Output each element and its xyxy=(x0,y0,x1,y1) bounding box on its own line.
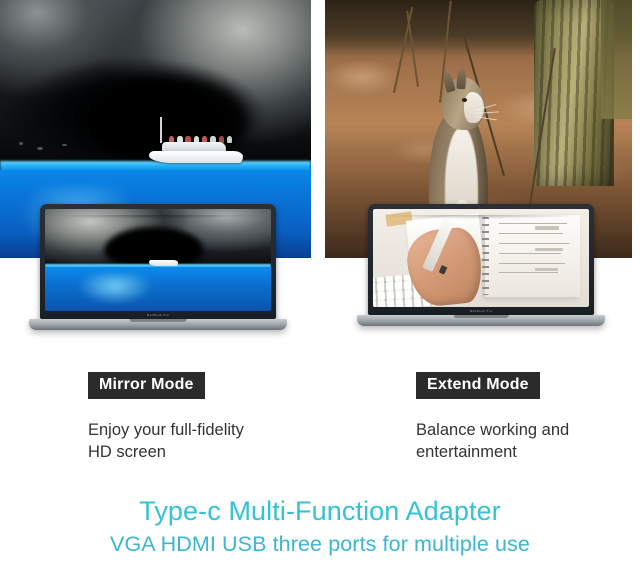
laptop-screen-extend xyxy=(373,209,589,307)
screen-content-grotto xyxy=(45,209,271,311)
product-headline: Type-c Multi-Function Adapter xyxy=(0,496,640,526)
planner-rule-line xyxy=(499,272,558,273)
planner-rule-line xyxy=(499,223,567,224)
caption-mirror-description: Enjoy your full-fidelity HD screen xyxy=(88,419,368,463)
laptop-lid: MacBook Pro xyxy=(40,204,276,319)
laptop-drop-shadow xyxy=(54,215,262,219)
laptop-chin: MacBook Pro xyxy=(368,307,594,314)
laptop-extend-mode: MacBook Pro xyxy=(368,204,594,326)
planner-rule-line xyxy=(499,253,562,254)
planner-text-block xyxy=(535,248,564,251)
planner-rule-line xyxy=(499,263,566,264)
passenger xyxy=(227,136,233,143)
laptop-screen-mirror xyxy=(45,209,271,311)
badge-extend-mode: Extend Mode xyxy=(416,372,540,399)
spiral-planner xyxy=(485,215,580,297)
laptop-drop-shadow xyxy=(382,215,581,219)
caption-extend-mode: Extend Mode Balance working and entertai… xyxy=(416,372,640,463)
caption-extend-description: Balance working and entertainment xyxy=(416,419,640,463)
tree-trunk-secondary xyxy=(601,0,632,119)
planner-text-block xyxy=(535,226,560,229)
laptop-brand-label: MacBook Pro xyxy=(147,313,169,317)
screen-water-glow xyxy=(77,274,154,305)
badge-mirror-mode: Mirror Mode xyxy=(88,372,205,399)
laptop-brand-label: MacBook Pro xyxy=(470,309,492,313)
rock-speck xyxy=(19,142,23,145)
laptop-chin: MacBook Pro xyxy=(40,311,276,318)
cat-head xyxy=(442,77,485,130)
laptop-lid: MacBook Pro xyxy=(368,204,594,315)
laptop-base xyxy=(29,319,287,330)
caption-row: Mirror Mode Enjoy your full-fidelity HD … xyxy=(0,372,640,482)
laptop-mirror-mode: MacBook Pro xyxy=(40,204,276,330)
cat-whisker xyxy=(475,111,499,114)
tour-boat xyxy=(149,141,242,163)
caption-mirror-mode: Mirror Mode Enjoy your full-fidelity HD … xyxy=(88,372,368,463)
planner-text-block xyxy=(535,268,558,271)
screen-content-planner xyxy=(373,209,589,307)
planner-rule-line xyxy=(499,233,564,234)
boat-hull xyxy=(149,151,242,162)
screen-boat xyxy=(149,260,178,266)
product-subheadline: VGA HDMI USB three ports for multiple us… xyxy=(0,532,640,556)
planner-rule-line xyxy=(499,243,569,244)
boat-mast xyxy=(160,117,162,143)
laptop-base xyxy=(357,315,605,326)
cat-eye xyxy=(462,98,467,102)
